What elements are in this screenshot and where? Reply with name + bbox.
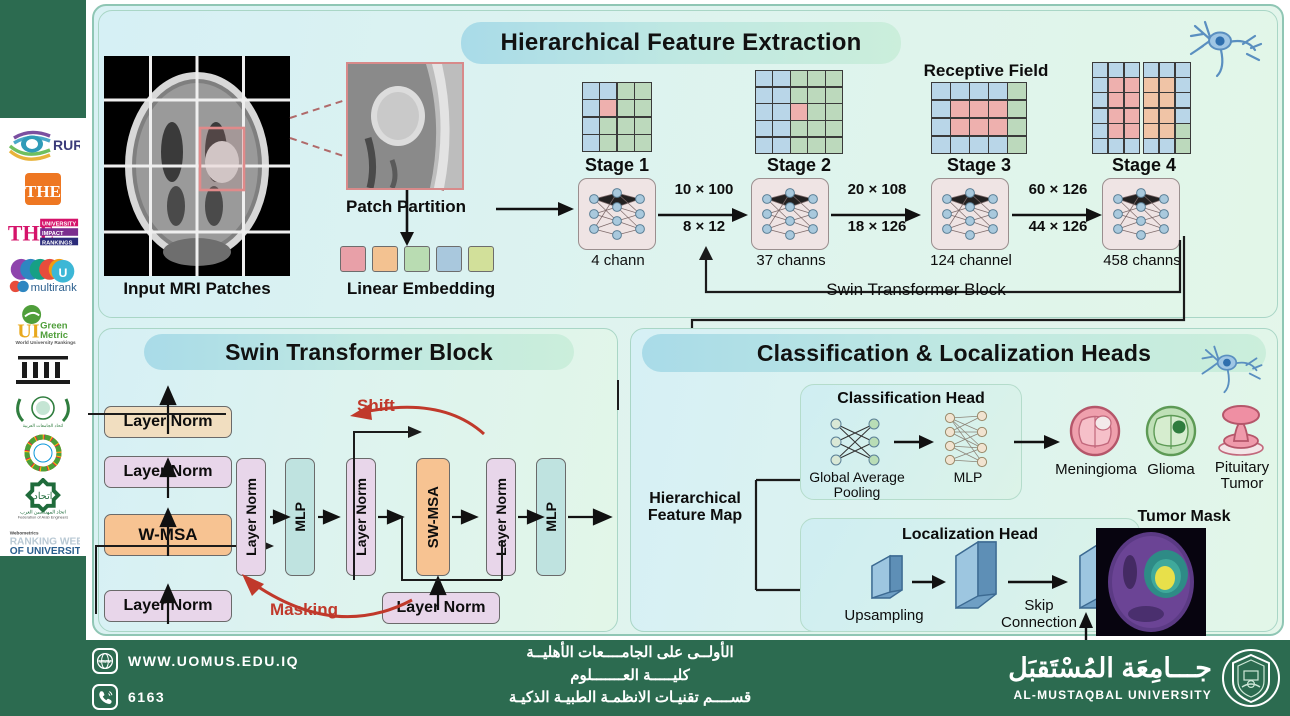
upsampling-label: Upsampling — [826, 608, 942, 624]
svg-text:World University Rankings: World University Rankings — [15, 340, 76, 346]
stage-1-title: Stage 1 — [567, 156, 667, 175]
hierarchical-feature-extraction-title: Hierarchical Feature Extraction — [461, 22, 901, 64]
neuron-icon-secondary — [1194, 336, 1270, 396]
svg-text:THE: THE — [25, 182, 61, 201]
upsampling-to-skip-arrow — [912, 572, 948, 592]
global-average-pooling-icon — [826, 414, 886, 470]
zoomed-patch-image — [346, 62, 464, 190]
svg-text:Metric: Metric — [40, 330, 68, 341]
ranking-logos-list: RUR THE THE UNIVERSITY IMPACT RANKINGS — [0, 118, 86, 558]
stage-2-patch-grid — [755, 70, 843, 154]
stage3-arrow-top-label: 60 × 126 — [1012, 182, 1104, 198]
input-mri-caption: Input MRI Patches — [94, 280, 300, 298]
classification-head-title: Classification Head — [800, 390, 1022, 407]
university-name-english: AL-MUSTAQBAL UNIVERSITY — [1008, 688, 1212, 702]
stage-4-patch-grid-left — [1092, 62, 1140, 154]
diagram-canvas: Hierarchical Feature Extraction — [86, 0, 1290, 640]
shift-label: Shift — [357, 396, 395, 416]
meningioma-label: Meningioma — [1048, 462, 1144, 478]
classification-localization-title: Classification & Localization Heads — [642, 334, 1266, 372]
stage3-arrow-bottom-label: 44 × 126 — [1012, 219, 1104, 235]
stage-2-title: Stage 2 — [749, 156, 849, 175]
svg-text:UI: UI — [17, 321, 39, 343]
sidebar-top-green-block — [0, 0, 86, 118]
footer-phone-row[interactable]: 6163 — [92, 682, 342, 712]
embedding-square-3 — [404, 246, 430, 272]
footer-arabic-line-3: قســــم تقنيـات الانظمـة الطبيـة الذكيـة — [340, 687, 920, 710]
stage-4-patch-grid — [1092, 62, 1191, 154]
arab-universities-union-logo: اتحاد الجامعات العربية — [6, 390, 80, 429]
embedding-square-5 — [468, 246, 494, 272]
footer-phone-text: 6163 — [128, 689, 165, 705]
skip-to-decoder-arrow — [1008, 572, 1070, 592]
svg-text:IMPACT: IMPACT — [42, 230, 64, 236]
svg-text:OF UNIVERSITIES: OF UNIVERSITIES — [10, 546, 80, 557]
svg-text:Federation of Arab Engineers: Federation of Arab Engineers — [18, 514, 68, 519]
sdg-wheel-logo — [6, 434, 80, 473]
footer-website-text: WWW.UOMUS.EDU.IQ — [128, 653, 299, 669]
phone-icon — [92, 684, 118, 710]
screenshot-root: RUR THE THE UNIVERSITY IMPACT RANKINGS — [0, 0, 1290, 716]
classification-to-classes-arrow — [1014, 432, 1062, 452]
svg-text:www: www — [98, 659, 111, 665]
stage-1-patch-grid — [582, 82, 652, 152]
hierarchical-feature-map-label: Hierarchical Feature Map — [630, 490, 760, 525]
federation-arab-engineers-logo: اتحاد اتحاد المهندسين العرب Federation o… — [6, 477, 80, 520]
glioma-icon — [1144, 404, 1198, 458]
skip-connection-up-arrow — [1076, 606, 1096, 640]
svg-text:RUR: RUR — [53, 137, 80, 153]
embedding-square-2 — [372, 246, 398, 272]
input-mri-image — [104, 56, 290, 276]
university-name-arabic: جـــامِعَة المُسْتَقبَل — [1008, 655, 1212, 682]
classification-mlp-icon — [938, 408, 998, 470]
rur-ranking-logo: RUR — [6, 124, 80, 165]
webometrics-logo: Webometrics RANKING WEB OF UNIVERSITIES — [6, 525, 80, 559]
footer-arabic-line-2: كليـــــة العـــــــلوم — [340, 665, 920, 688]
university-shield-logo — [1222, 647, 1280, 709]
svg-text:اتحاد: اتحاد — [34, 491, 53, 502]
linear-embedding-caption: Linear Embedding — [316, 280, 526, 298]
svg-text:اتحاد الجامعات العربية: اتحاد الجامعات العربية — [23, 423, 64, 429]
classification-gap-to-mlp-arrow — [894, 432, 936, 452]
stage-1-block — [578, 178, 656, 250]
ui-greenmetric-logo: UI Green Metric World University Ranking… — [6, 302, 80, 347]
svg-text:Webometrics: Webometrics — [10, 531, 39, 536]
stage2-arrow-bottom-label: 18 × 126 — [831, 219, 923, 235]
global-average-pooling-label: Global Average Pooling — [802, 470, 912, 500]
tumor-mask-image — [1096, 528, 1206, 636]
stage-4-patch-grid-right — [1143, 62, 1191, 154]
the-impact-rankings-logo: THE UNIVERSITY IMPACT RANKINGS — [6, 213, 80, 250]
university-columns-logo — [6, 351, 80, 386]
tumor-mask-label: Tumor Mask — [1094, 508, 1274, 525]
neuron-icon — [1181, 10, 1271, 80]
footer-website-row[interactable]: www WWW.UOMUS.EDU.IQ — [92, 646, 342, 676]
embedding-square-1 — [340, 246, 366, 272]
glioma-label: Glioma — [1134, 462, 1208, 478]
masking-label: Masking — [270, 600, 338, 620]
stage-3-patch-grid — [931, 82, 1027, 154]
the-ranking-logo: THE — [6, 169, 80, 208]
pituitary-tumor-label: Pituitary Tumor — [1204, 460, 1280, 492]
www-icon: www — [92, 648, 118, 674]
svg-text:U: U — [58, 266, 67, 280]
stage-1-channels: 4 chann — [572, 253, 664, 269]
footer-bar: www WWW.UOMUS.EDU.IQ 6163 الأولــى على ا… — [0, 640, 1290, 716]
stage-3-title: Stage 3 — [929, 156, 1029, 175]
stage-4-title: Stage 4 — [1094, 156, 1194, 175]
svg-text:UNIVERSITY: UNIVERSITY — [42, 221, 76, 227]
swin-transformer-block-title: Swin Transformer Block — [144, 334, 574, 370]
university-brand-block: جـــامِعَة المُسْتَقبَل AL-MUSTAQBAL UNI… — [940, 644, 1280, 712]
svg-text:RANKINGS: RANKINGS — [42, 240, 73, 246]
receptive-field-label: Receptive Field — [896, 62, 1076, 80]
footer-contact-group: www WWW.UOMUS.EDU.IQ 6163 — [92, 646, 342, 710]
branding-sidebar: RUR THE THE UNIVERSITY IMPACT RANKINGS — [0, 0, 86, 716]
footer-arabic-line-1: الأولــى على الجامــــعات الأهليــة — [340, 642, 920, 665]
footer-arabic-block: الأولــى على الجامــــعات الأهليــة كليـ… — [340, 642, 920, 710]
pituitary-tumor-icon — [1212, 400, 1270, 458]
svg-text:multirank: multirank — [31, 282, 77, 294]
patch-partition-arrow — [397, 190, 417, 248]
upsampling-cube-icon — [868, 552, 908, 608]
stage1-arrow-bottom-label: 8 × 12 — [658, 219, 750, 235]
meningioma-icon — [1068, 404, 1122, 458]
stage1-arrow-top-label: 10 × 100 — [658, 182, 750, 198]
stage2-arrow-top-label: 20 × 108 — [831, 182, 923, 198]
embedding-square-4 — [436, 246, 462, 272]
skip-connection-label: Skip Connection — [994, 598, 1084, 631]
input-to-stage1-arrow — [496, 198, 576, 220]
classification-mlp-label: MLP — [938, 470, 998, 485]
u-multirank-logo: U multirank — [6, 254, 80, 297]
